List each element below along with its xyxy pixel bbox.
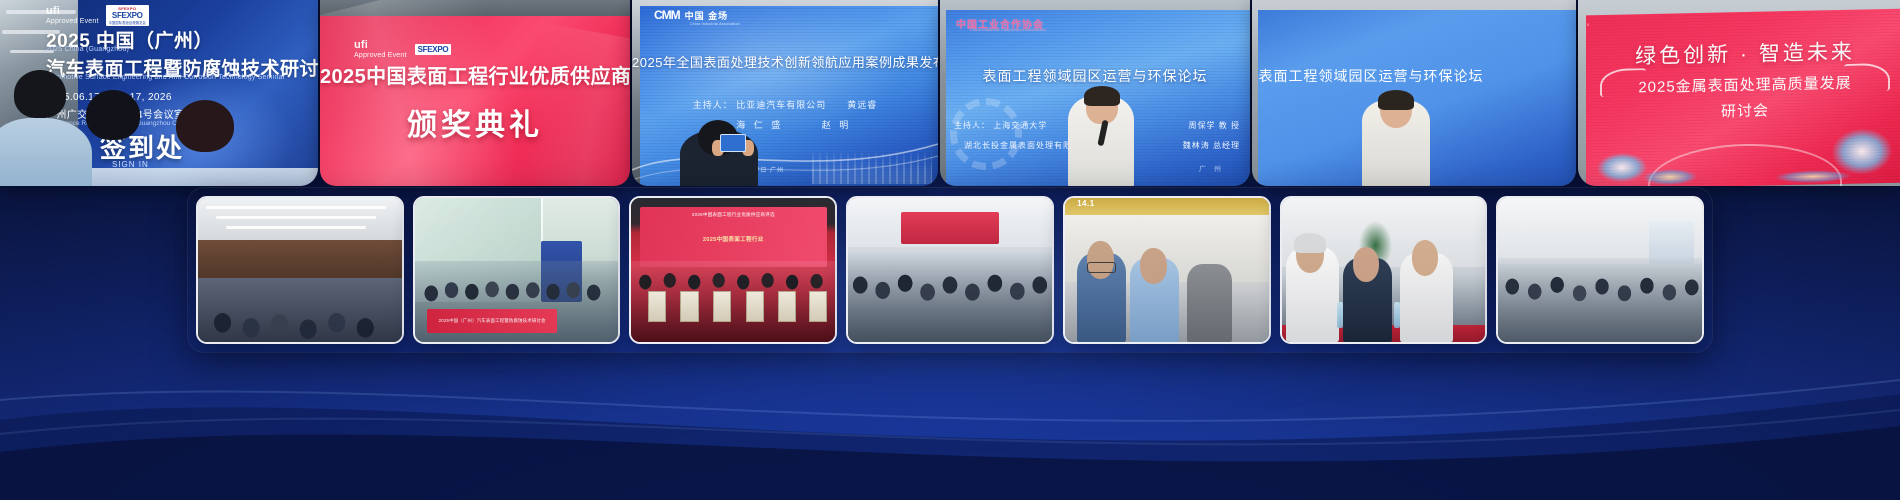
- ufi-logo-main: ufi: [46, 6, 99, 18]
- attendee-torso: [0, 118, 92, 186]
- photo-overlay: [1282, 198, 1486, 342]
- host-name: 黄远睿: [847, 100, 877, 110]
- host-name: 周保学 教 授: [1189, 120, 1240, 131]
- panel1-title-en-line2: Automotive Surface Engineering and Anti-…: [46, 74, 285, 81]
- ufi-logo-main: ufi: [354, 40, 407, 52]
- top-panel-park-forum-wide[interactable]: 表面工程领域园区运营与环保论坛: [1252, 0, 1576, 186]
- panel3-host-line1: 主持人： 比亚迪汽车有限公司 黄远睿: [632, 98, 938, 111]
- panel6-title-line2: 研讨会: [1586, 97, 1900, 125]
- organizer-logo-mark: CMM: [654, 8, 680, 22]
- top-panel-registration-desk[interactable]: ufi Approved Event SFEXPO SFEXPO 中国国际表面处…: [0, 0, 318, 186]
- panel2-title: 2025中国表面工程行业优质供应商评选: [320, 60, 630, 89]
- event-banner-stage: ufi Approved Event SFEXPO SFEXPO 中国国际表面处…: [0, 0, 1900, 500]
- panel3-title: 2025年全国表面处理技术创新领航应用案例成果发布会: [632, 52, 938, 71]
- sfexpo-logo-name: SFEXPO: [112, 11, 143, 20]
- photo-overlay: [631, 198, 835, 342]
- organizer-logo-icon: CMM 中国 金场: [654, 8, 728, 22]
- gear-icon: [950, 98, 1022, 170]
- ufi-logo-sub: Approved Event: [46, 18, 99, 25]
- photo-overlay: [1498, 198, 1702, 342]
- bottom-photo-row: 2025中国（广州）汽车表面工程暨防腐蚀技术研讨会 2025中国表面工程行业优质…: [196, 196, 1704, 344]
- attendee-head: [86, 90, 140, 140]
- photo-vip-front-row[interactable]: [1280, 196, 1488, 344]
- red-led-screen: 绿色创新 · 智造未来 2025金属表面处理高质量发展 研讨会: [1586, 9, 1900, 186]
- swirl-decoration-left: [1600, 68, 1646, 97]
- photo-overlay: [198, 198, 402, 342]
- panel5-title: 表面工程领域园区运营与环保论坛: [1252, 66, 1566, 86]
- photo-exhibition-crowd[interactable]: [1496, 196, 1704, 344]
- banner-sheen: [320, 0, 530, 186]
- photo-group-photo[interactable]: 2025中国（广州）汽车表面工程暨防腐蚀技术研讨会: [413, 196, 621, 344]
- attendee-head: [176, 100, 234, 152]
- flower-decoration-left: [1586, 117, 1706, 186]
- swirl-decoration-right: [1844, 63, 1890, 92]
- flower-decoration-right: [1764, 103, 1900, 186]
- arch-decoration: [1648, 142, 1842, 186]
- lace-border-decoration: [1586, 17, 1900, 36]
- photo-conference-hall[interactable]: [196, 196, 404, 344]
- ufi-logo-sub: Approved Event: [354, 52, 407, 59]
- speaker-hair: [1084, 86, 1120, 106]
- ufi-logo-icon: ufi Approved Event: [46, 6, 99, 25]
- banner-logo-group: ufi Approved Event SFEXPO SFEXPO 中国国际表面处…: [46, 5, 149, 26]
- top-panel-release-conference[interactable]: CMM 中国 金场 China Industrial Association 2…: [632, 0, 938, 186]
- background-swoosh: [0, 360, 1900, 500]
- sfexpo-logo-name: SFEXPO: [418, 45, 449, 54]
- photo-seated-attendees[interactable]: 14.1: [1063, 196, 1271, 344]
- photo-overlay: [848, 198, 1052, 342]
- host-label-org: 主持人： 上海交通大学: [954, 120, 1047, 131]
- sfexpo-logo-sub: 中国国际表面处理展览会: [109, 20, 146, 25]
- sfexpo-logo-icon: SFEXPO: [415, 44, 452, 55]
- organizer-logo-en: China Industrial Association: [690, 22, 740, 26]
- photo-awards-stage[interactable]: 2025中国表面工程行业优质供应商评选 2025中国表面工程行业: [629, 196, 837, 344]
- photo-overlay: [1065, 198, 1269, 342]
- panel1-title-en-line1: 2025 China (Guangzhou): [46, 46, 129, 53]
- host-label: 主持人：: [954, 121, 990, 130]
- phone-screen-icon: [720, 134, 746, 152]
- top-panel-park-forum[interactable]: 中国工业合作协会 China Industrial Cooperation As…: [940, 0, 1250, 186]
- attendee-head: [14, 70, 66, 118]
- panel6-title-line1: 2025金属表面处理高质量发展: [1586, 71, 1900, 99]
- panel2-subtitle: 颁奖典礼: [320, 100, 630, 144]
- host-org: 上海交通大学: [993, 121, 1047, 130]
- speaker-hair: [1378, 90, 1414, 110]
- panel4-footer-city: 广 州: [1199, 164, 1224, 174]
- wave-graphic: [632, 126, 938, 186]
- top-panel-row: ufi Approved Event SFEXPO SFEXPO 中国国际表面处…: [0, 0, 1900, 190]
- top-panel-green-innovation[interactable]: 绿色创新 · 智造未来 2025金属表面处理高质量发展 研讨会: [1578, 0, 1900, 186]
- photo-audience-back-view[interactable]: [846, 196, 1054, 344]
- sfexpo-logo-icon: SFEXPO SFEXPO 中国国际表面处理展览会: [106, 5, 149, 26]
- association-name-en: China Industrial Cooperation Association: [970, 28, 1047, 32]
- organizer-logo-cn: 中国 金场: [685, 9, 729, 22]
- host-name: 魏林涛 总经理: [1183, 140, 1240, 151]
- photo-overlay: [415, 198, 619, 342]
- banner-logo-group: ufi Approved Event SFEXPO: [354, 40, 451, 59]
- panel4-title: 表面工程领域园区运营与环保论坛: [940, 66, 1250, 86]
- top-panel-awards-ceremony[interactable]: ufi Approved Event SFEXPO 2025中国表面工程行业优质…: [320, 0, 630, 186]
- host-label: 主持人：: [693, 100, 733, 110]
- host-org: 比亚迪汽车有限公司: [736, 100, 826, 110]
- ufi-logo-icon: ufi Approved Event: [354, 40, 407, 59]
- panel6-headline: 绿色创新 · 智造未来: [1586, 35, 1900, 72]
